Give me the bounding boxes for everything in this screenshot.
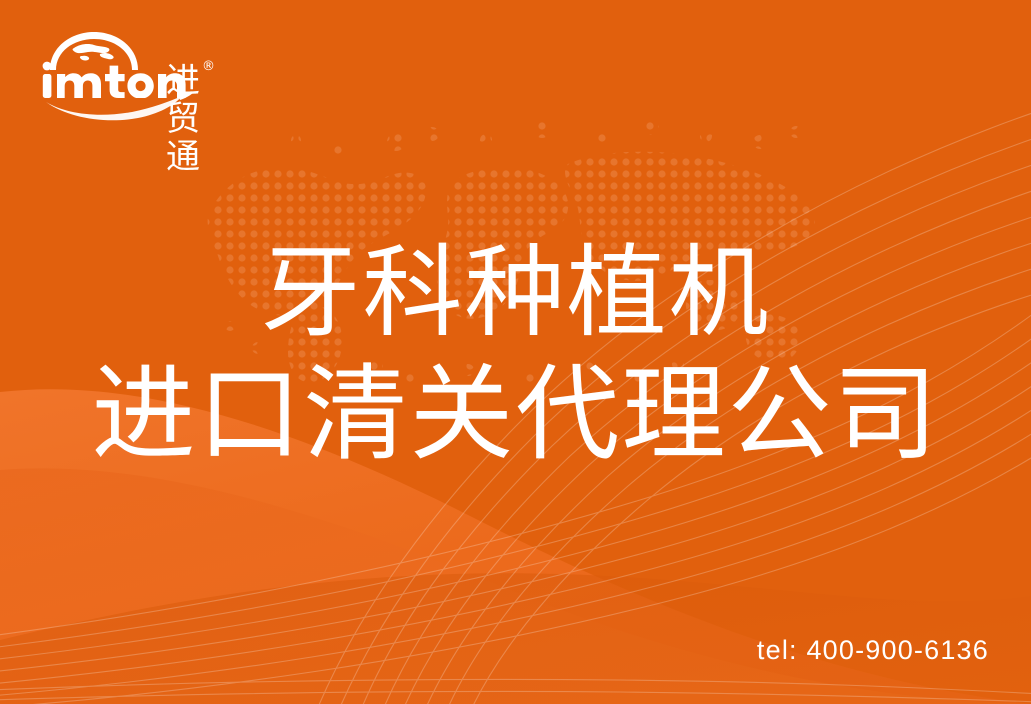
contact-phone: tel: 400-900-6136 bbox=[757, 635, 989, 666]
registered-trademark-icon: ® bbox=[202, 60, 215, 73]
headline-line-1: 牙科种植机 bbox=[0, 232, 1031, 354]
headline-line-2: 进口清关代理公司 bbox=[0, 354, 1031, 476]
promo-banner: 进贸通 ® 牙科种植机 进口清关代理公司 tel: 400-900-6136 bbox=[0, 0, 1031, 704]
dolphin-swoosh-icon bbox=[40, 86, 220, 126]
headline-block: 牙科种植机 进口清关代理公司 bbox=[0, 232, 1031, 476]
globe-arc-icon bbox=[50, 32, 138, 70]
